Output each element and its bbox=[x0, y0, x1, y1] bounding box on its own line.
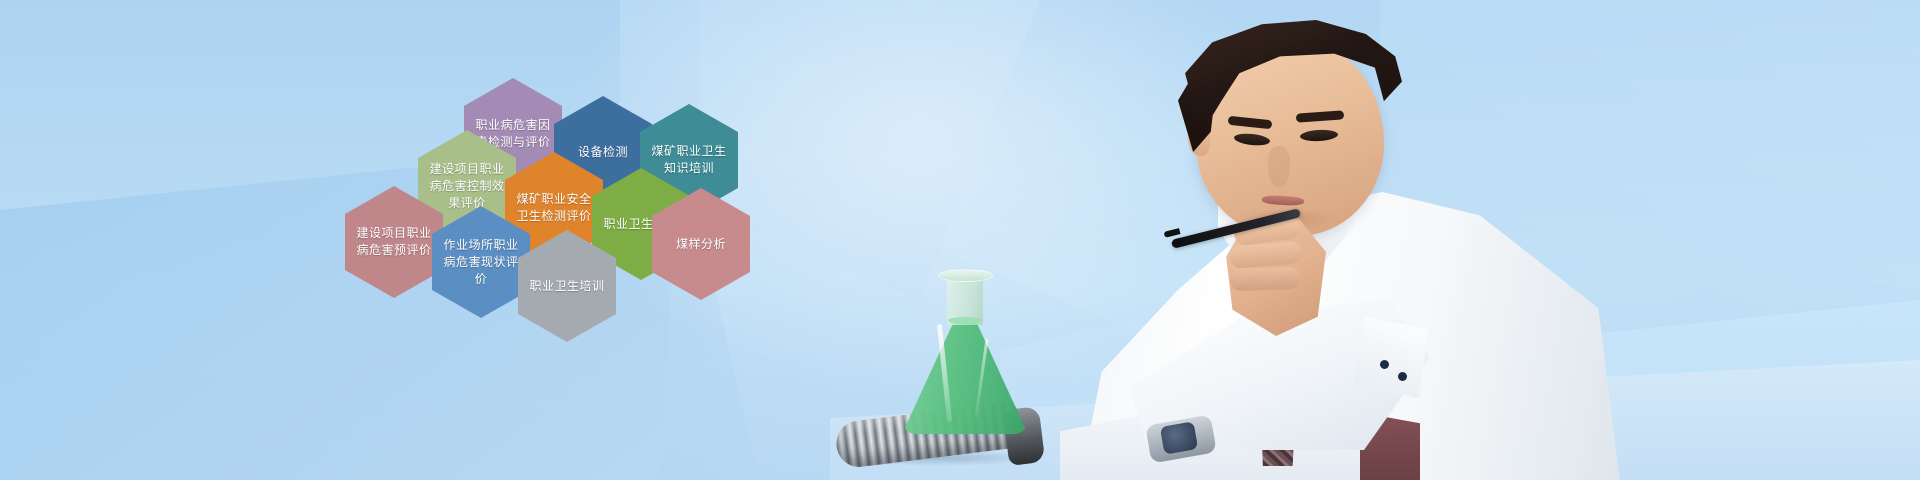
hex-coal-sample-analysis-label: 煤样分析 bbox=[661, 236, 741, 253]
service-hexagon-cluster: 职业病危害因素检测与评价设备检测煤矿职业卫生知识培训建设项目职业病危害控制效果评… bbox=[0, 0, 780, 360]
hex-workplace-hazard-status-evaluation-label: 作业场所职业病危害现状评价 bbox=[441, 237, 521, 288]
hex-equipment-inspection-label: 设备检测 bbox=[563, 144, 643, 161]
laboratory-scene bbox=[830, 0, 1920, 480]
hex-construction-project-pre-evaluation-label: 建设项目职业病危害预评价 bbox=[354, 225, 434, 259]
pen-tip bbox=[1164, 228, 1181, 238]
cuff-button-1 bbox=[1380, 360, 1389, 369]
hex-construction-project-control-effect-label: 建设项目职业病危害控制效果评价 bbox=[427, 161, 507, 212]
banner-root: 职业病危害因素检测与评价设备检测煤矿职业卫生知识培训建设项目职业病危害控制效果评… bbox=[0, 0, 1920, 480]
hex-coal-mine-safety-health-detection-label: 煤矿职业安全卫生检测评价 bbox=[514, 191, 594, 225]
hex-coal-mine-health-knowledge-training-label: 煤矿职业卫生知识培训 bbox=[649, 143, 729, 177]
cuff-button-2 bbox=[1398, 372, 1407, 381]
finger-3 bbox=[1230, 267, 1301, 291]
hex-occupational-health-training-label: 职业卫生培训 bbox=[527, 278, 607, 295]
wristwatch-face bbox=[1160, 421, 1198, 454]
nose bbox=[1268, 146, 1290, 188]
man-thinking bbox=[830, 0, 1920, 480]
